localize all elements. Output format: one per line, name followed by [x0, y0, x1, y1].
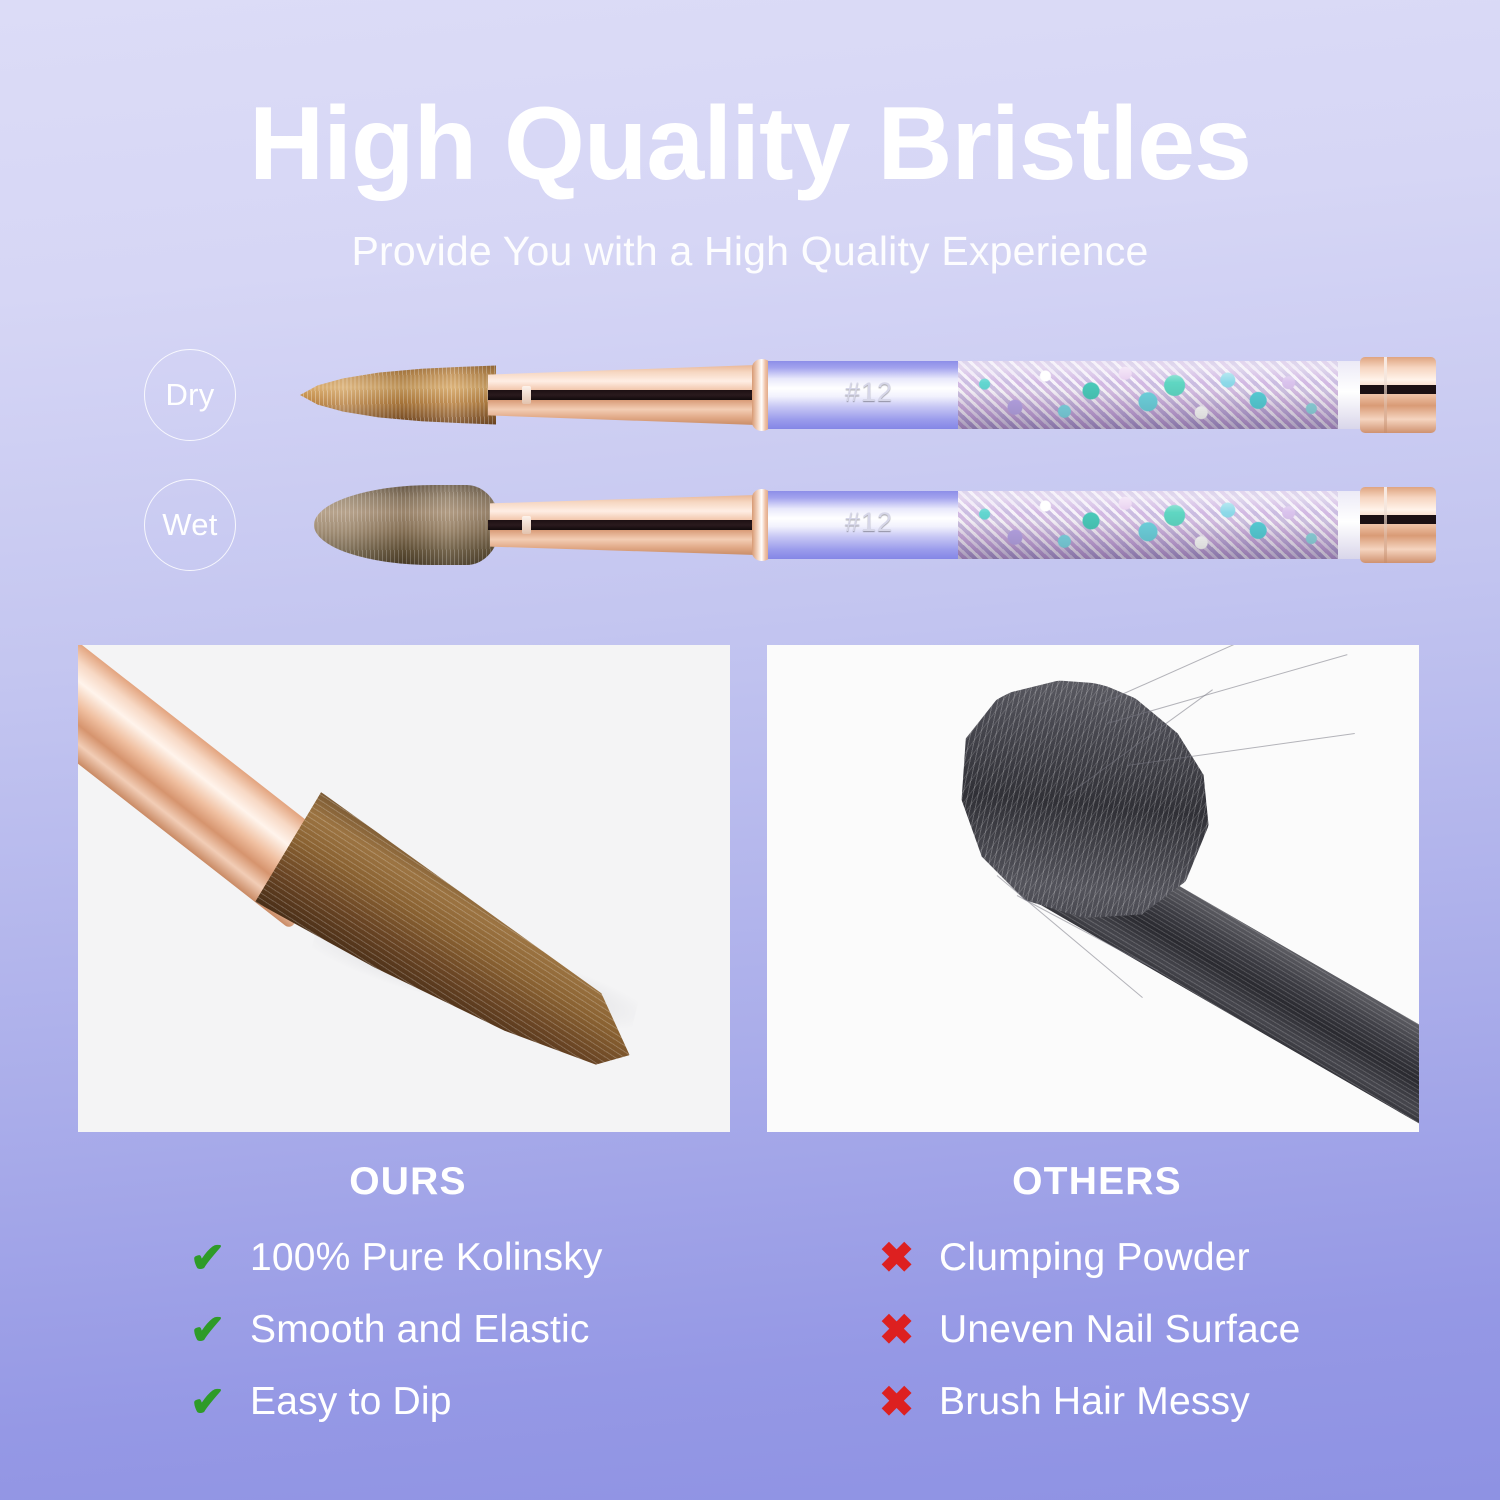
comparison-list-others: ✖ Clumping Powder ✖ Uneven Nail Surface … — [767, 1222, 1427, 1438]
list-item-label: 100% Pure Kolinsky — [250, 1236, 603, 1280]
handle-glitter-dry — [958, 361, 1338, 429]
endcap-seam-wet — [1360, 515, 1436, 524]
list-item-label: Brush Hair Messy — [939, 1380, 1250, 1424]
brush-row-wet: Wet #12 — [0, 465, 1500, 585]
list-item: ✖ Uneven Nail Surface — [879, 1294, 1427, 1366]
handle-glitter-wet — [958, 491, 1338, 559]
handle-collar-wet — [1338, 491, 1360, 559]
list-item: ✖ Brush Hair Messy — [879, 1366, 1427, 1438]
stray-hair — [1107, 654, 1348, 724]
handle-collar-dry — [1338, 361, 1360, 429]
comparison-section: OURS ✔ 100% Pure Kolinsky ✔ Smooth and E… — [0, 1160, 1500, 1460]
comparison-heading-others: OTHERS — [767, 1160, 1427, 1204]
ferrule-highlight-wet — [522, 516, 531, 534]
state-badge-wet-label: Wet — [162, 507, 217, 543]
cross-icon: ✖ — [879, 1381, 939, 1423]
state-badge-wet: Wet — [144, 479, 236, 571]
comparison-column-others: OTHERS ✖ Clumping Powder ✖ Uneven Nail S… — [767, 1160, 1427, 1438]
brush-illustration-wet: #12 — [300, 465, 1410, 585]
list-item: ✔ 100% Pure Kolinsky — [190, 1222, 738, 1294]
endcap-line-wet — [1384, 487, 1387, 563]
endcap-line-dry — [1384, 357, 1387, 433]
list-item-label: Clumping Powder — [939, 1236, 1250, 1280]
state-badge-dry-label: Dry — [165, 377, 214, 413]
bristle-head-wet — [314, 485, 500, 565]
page-title: High Quality Bristles — [0, 92, 1500, 196]
handle-endcap-wet — [1360, 487, 1436, 563]
list-item: ✖ Clumping Powder — [879, 1222, 1427, 1294]
comparison-list-ours: ✔ 100% Pure Kolinsky ✔ Smooth and Elasti… — [78, 1222, 738, 1438]
photo-others-brush — [767, 645, 1419, 1132]
brush-illustration-dry: #12 — [300, 335, 1410, 455]
list-item-label: Smooth and Elastic — [250, 1308, 590, 1352]
ferrule-highlight-dry — [522, 386, 531, 404]
page-subtitle: Provide You with a High Quality Experien… — [0, 228, 1500, 275]
bristle-head-dry — [300, 363, 496, 427]
photo-ours-brush — [78, 645, 730, 1132]
cross-icon: ✖ — [879, 1309, 939, 1351]
brush-size-label-wet: #12 — [845, 507, 893, 538]
state-badge-dry: Dry — [144, 349, 236, 441]
check-icon: ✔ — [190, 1237, 250, 1279]
brush-size-label-dry: #12 — [845, 377, 893, 408]
comparison-heading-ours: OURS — [78, 1160, 738, 1204]
handle-endcap-dry — [1360, 357, 1436, 433]
brush-row-dry: Dry #12 — [0, 335, 1500, 455]
list-item-label: Easy to Dip — [250, 1380, 452, 1424]
check-icon: ✔ — [190, 1381, 250, 1423]
endcap-seam-dry — [1360, 385, 1436, 394]
cross-icon: ✖ — [879, 1237, 939, 1279]
comparison-column-ours: OURS ✔ 100% Pure Kolinsky ✔ Smooth and E… — [78, 1160, 738, 1438]
list-item-label: Uneven Nail Surface — [939, 1308, 1300, 1352]
header: High Quality Bristles Provide You with a… — [0, 0, 1500, 275]
list-item: ✔ Easy to Dip — [190, 1366, 738, 1438]
check-icon: ✔ — [190, 1309, 250, 1351]
list-item: ✔ Smooth and Elastic — [190, 1294, 738, 1366]
